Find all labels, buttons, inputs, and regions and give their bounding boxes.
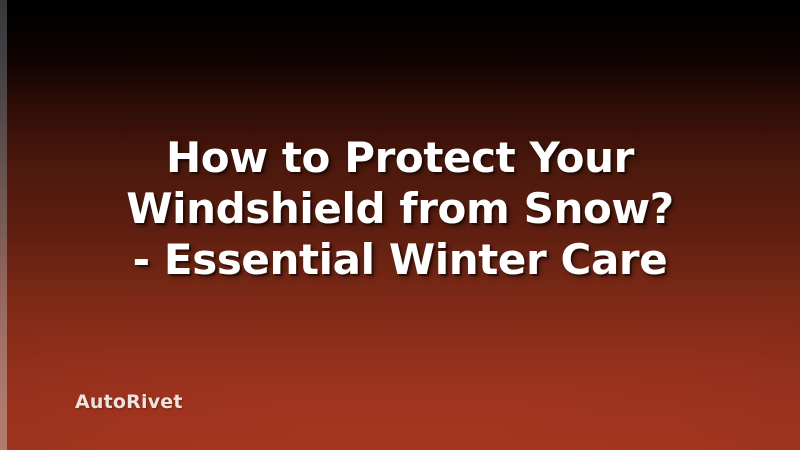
headline-line-1: How to Protect Your (40, 132, 760, 183)
brand-watermark: AutoRivet (75, 391, 183, 413)
headline-line-3: - Essential Winter Care (40, 234, 760, 285)
page-title: How to Protect Your Windshield from Snow… (0, 132, 800, 285)
headline-line-2: Windshield from Snow? (40, 183, 760, 234)
thumbnail-canvas: How to Protect Your Windshield from Snow… (0, 0, 800, 450)
